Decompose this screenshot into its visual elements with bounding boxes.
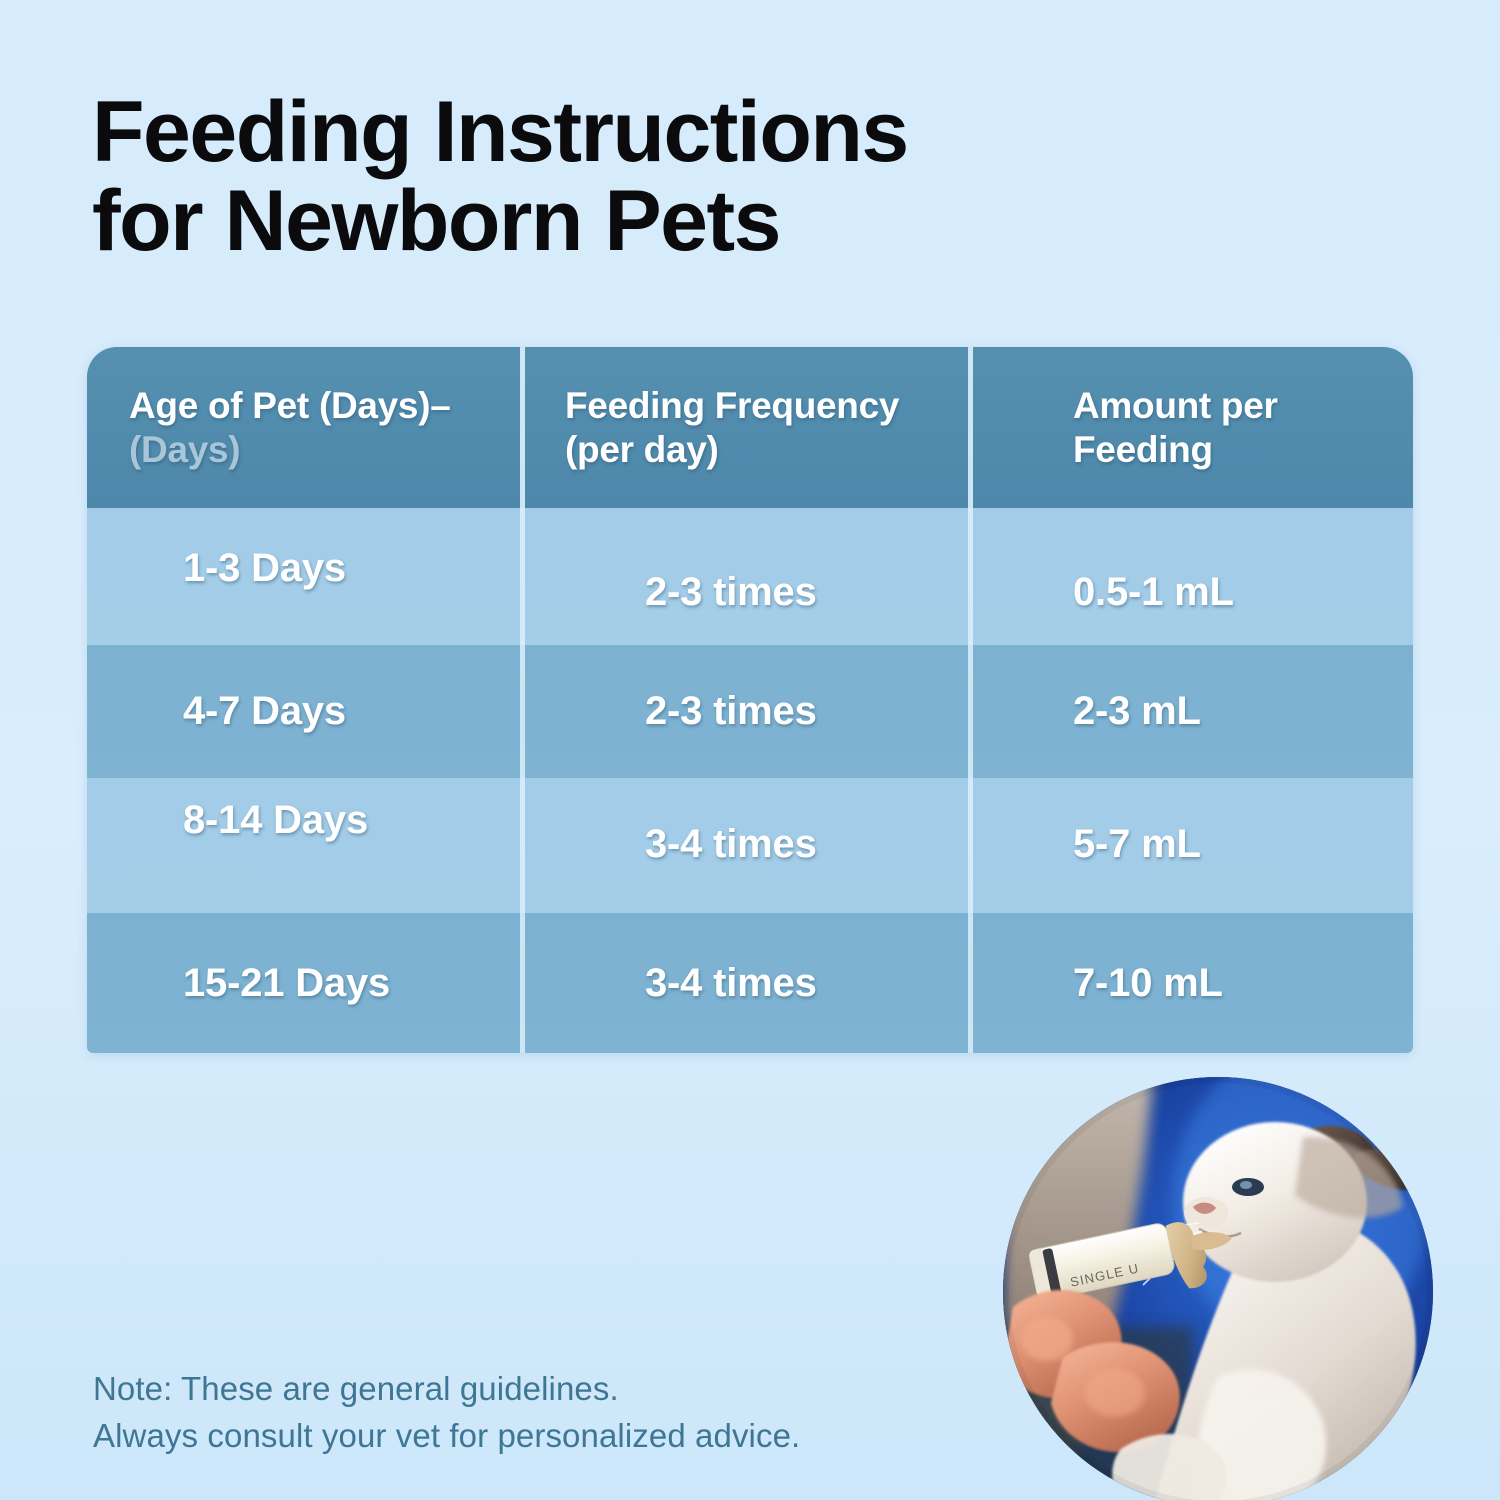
cell-frequency: 3-4 times	[525, 778, 973, 913]
page-title: Feeding Instructions for Newborn Pets	[92, 88, 1212, 267]
column-header-age-sub: (Days)	[129, 429, 240, 470]
table-header-row: Age of Pet (Days)– (Days) Feeding Freque…	[87, 347, 1413, 508]
table-row: 15-21 Days 3-4 times 7-10 mL	[87, 913, 1413, 1053]
cell-frequency: 2-3 times	[525, 508, 973, 645]
cell-amount: 2-3 mL	[973, 645, 1413, 778]
note-line-2: Always consult your vet for personalized…	[93, 1413, 933, 1460]
note-line-1: Note: These are general guidelines.	[93, 1366, 933, 1413]
column-header-frequency-sub: (per day)	[565, 429, 719, 470]
cell-amount: 7-10 mL	[973, 913, 1413, 1053]
cell-frequency: 3-4 times	[525, 913, 973, 1053]
cell-age: 15-21 Days	[87, 913, 525, 1053]
column-header-frequency-main: Feeding Frequency	[565, 385, 899, 426]
feeding-schedule-table: Age of Pet (Days)– (Days) Feeding Freque…	[87, 347, 1413, 1053]
infographic-page: Feeding Instructions for Newborn Pets Ag…	[0, 0, 1500, 1500]
table-row: 1-3 Days 2-3 times 0.5-1 mL	[87, 508, 1413, 645]
column-header-amount-main: Amount per	[1073, 385, 1278, 426]
cell-amount: 0.5-1 mL	[973, 508, 1413, 645]
column-header-age-main: Age of Pet (Days)–	[129, 385, 451, 426]
table-body: 1-3 Days 2-3 times 0.5-1 mL 4-7 Days 2-3…	[87, 508, 1413, 1053]
kitten-bottle-feeding-photo: SINGLE U	[1003, 1077, 1433, 1500]
table-row: 4-7 Days 2-3 times 2-3 mL	[87, 645, 1413, 778]
page-title-line-1: Feeding Instructions	[92, 88, 1212, 177]
column-header-amount-sub: Feeding	[1073, 429, 1213, 470]
column-header-frequency: Feeding Frequency (per day)	[525, 347, 973, 508]
cell-age: 8-14 Days	[87, 778, 525, 913]
column-header-age: Age of Pet (Days)– (Days)	[87, 347, 525, 508]
cell-frequency: 2-3 times	[525, 645, 973, 778]
cell-age: 4-7 Days	[87, 645, 525, 778]
column-header-amount: Amount per Feeding	[973, 347, 1413, 508]
cell-amount: 5-7 mL	[973, 778, 1413, 913]
page-title-line-2: for Newborn Pets	[92, 177, 1212, 266]
cell-age: 1-3 Days	[87, 508, 525, 645]
table-row: 8-14 Days 3-4 times 5-7 mL	[87, 778, 1413, 913]
note-text: Note: These are general guidelines. Alwa…	[93, 1366, 933, 1460]
